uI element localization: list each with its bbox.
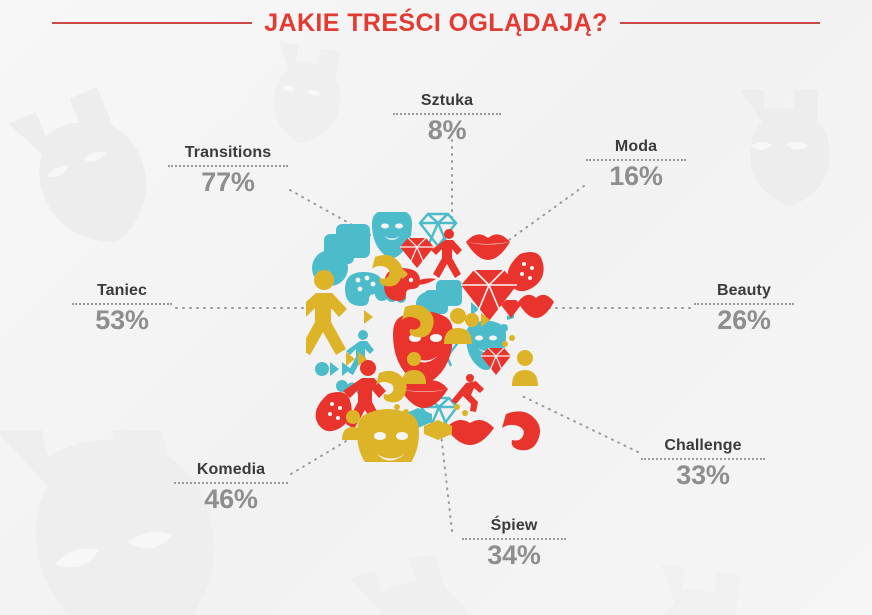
title-bar: JAKIE TREŚCI OGLĄDAJĄ? [0, 0, 872, 46]
infographic-canvas: JAKIE TREŚCI OGLĄDAJĄ? [0, 0, 872, 615]
label-moda: Moda 16% [586, 138, 686, 192]
label-komedia-value: 46% [174, 485, 288, 515]
label-transitions-name: Transitions [168, 144, 288, 162]
label-sztuka-value: 8% [393, 116, 501, 146]
label-sztuka-name: Sztuka [393, 92, 501, 110]
label-moda-value: 16% [586, 162, 686, 192]
label-spiew-name: Śpiew [462, 517, 566, 535]
watermark-mask-bottomright [620, 560, 770, 615]
icon-cluster [306, 212, 556, 462]
label-beauty-name: Beauty [694, 282, 794, 300]
watermark-mask-bottomleft [0, 430, 260, 615]
label-challenge-name: Challenge [641, 437, 765, 455]
label-sztuka: Sztuka 8% [393, 92, 501, 146]
label-transitions: Transitions 77% [168, 144, 288, 198]
label-moda-name: Moda [586, 138, 686, 156]
label-beauty: Beauty 26% [694, 282, 794, 336]
label-komedia-name: Komedia [174, 461, 288, 479]
title-rule-left [52, 22, 252, 24]
label-transitions-value: 77% [168, 168, 288, 198]
label-challenge-value: 33% [641, 461, 765, 491]
label-taniec-name: Taniec [72, 282, 172, 300]
label-taniec: Taniec 53% [72, 282, 172, 336]
label-spiew: Śpiew 34% [462, 517, 566, 571]
label-challenge: Challenge 33% [641, 437, 765, 491]
title-rule-right [620, 22, 820, 24]
label-spiew-value: 34% [462, 541, 566, 571]
label-beauty-value: 26% [694, 306, 794, 336]
watermark-mask-topright [716, 82, 846, 232]
page-title: JAKIE TREŚCI OGLĄDAJĄ? [264, 9, 608, 38]
watermark-mask-topcenter [246, 36, 356, 156]
watermark-mask-topleft [0, 78, 170, 268]
label-komedia: Komedia 46% [174, 461, 288, 515]
label-taniec-value: 53% [72, 306, 172, 336]
